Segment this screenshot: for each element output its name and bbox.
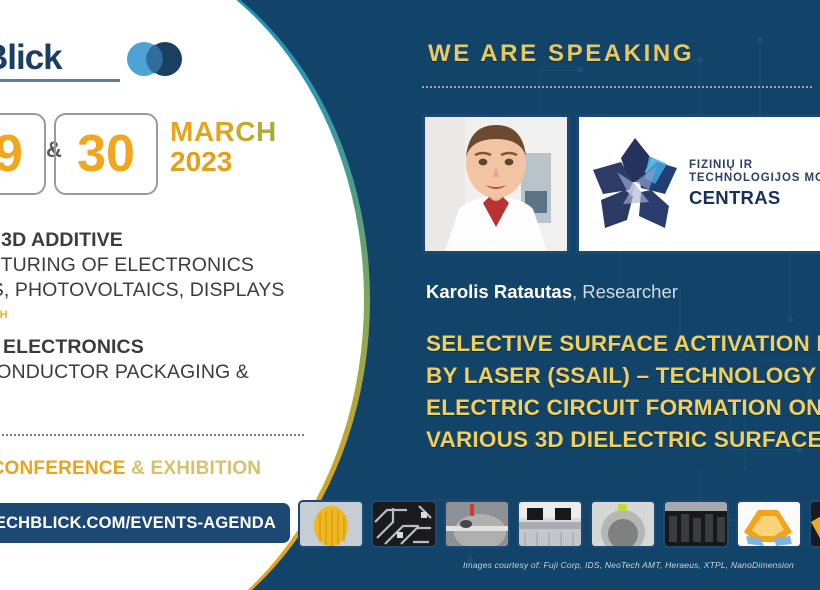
colocated-line-2: SEMICONDUCTOR PACKAGING & bbox=[0, 360, 334, 385]
thumbnail-item bbox=[371, 500, 437, 548]
speaker-announcement-banner: chBlick 29 & 30 MARCH 2023 ITAL & 3D ADD… bbox=[0, 0, 820, 590]
org-line-2: TECHNOLOGIJOS MOKS bbox=[689, 172, 820, 185]
colocated-event-name: DITIVE ELECTRONICS SEMICONDUCTOR PACKAGI… bbox=[0, 335, 334, 410]
thumbnail-item bbox=[444, 500, 510, 548]
thumbnail-item bbox=[298, 500, 364, 548]
panel-eyebrow: WE ARE SPEAKING bbox=[428, 40, 694, 68]
day-two-value: 30 bbox=[77, 128, 135, 180]
headline-line-2: NUFACTURING OF ELECTRONICS bbox=[0, 253, 324, 278]
format-primary: TUAL CONFERENCE bbox=[0, 458, 126, 479]
colocated-line-3: S bbox=[0, 385, 334, 410]
talk-title-line-2: BY LASER (SSAIL) – TECHNOLOGY OF bbox=[426, 360, 820, 392]
event-url-button[interactable]: W.TECHBLICK.COM/EVENTS-AGENDA bbox=[0, 503, 290, 543]
talk-title-line-1: SELECTIVE SURFACE ACTIVATION INDU bbox=[426, 328, 820, 360]
speaker-identity: Karolis Ratautas, Researcher bbox=[426, 281, 678, 303]
colocated-label: CATED WITH bbox=[0, 309, 8, 321]
talk-title-line-3: ELECTRIC CIRCUIT FORMATION ON bbox=[426, 392, 820, 424]
event-info-panel: chBlick 29 & 30 MARCH 2023 ITAL & 3D ADD… bbox=[0, 0, 320, 590]
event-format: TUAL CONFERENCE & EXHIBITION bbox=[0, 458, 261, 480]
portrait-illustration bbox=[425, 117, 567, 251]
logo-circles-icon bbox=[124, 41, 184, 77]
org-line-3: CENTRAS bbox=[689, 188, 820, 209]
headline-line-1: ITAL & 3D ADDITIVE bbox=[0, 228, 324, 253]
image-credit: Images courtesy of: Fuji Corp, IDS, NeoT… bbox=[463, 560, 794, 570]
thumbnail-item bbox=[517, 500, 583, 548]
speaker-name: Karolis Ratautas bbox=[426, 281, 572, 302]
headline-line-3: NSORS, PHOTOVOLTAICS, DISPLAYS bbox=[0, 278, 324, 303]
logo-word-bold: Blick bbox=[0, 38, 62, 77]
techblick-logo[interactable]: chBlick bbox=[0, 38, 178, 84]
thumbnail-item bbox=[809, 500, 820, 548]
event-year: 2023 bbox=[170, 147, 277, 177]
event-url-text: W.TECHBLICK.COM/EVENTS-AGENDA bbox=[0, 514, 276, 533]
thumbnail-item bbox=[663, 500, 729, 548]
event-dates: 29 & 30 MARCH 2023 bbox=[0, 113, 302, 191]
thumbnail-strip bbox=[298, 500, 820, 548]
talk-title-line-4: VARIOUS 3D DIELECTRIC SURFACES bbox=[426, 424, 820, 456]
ftmc-star-icon bbox=[587, 132, 683, 236]
logo-underline bbox=[0, 79, 120, 82]
eyebrow-dotted-divider bbox=[422, 86, 814, 88]
date-box-day-two: 30 bbox=[54, 113, 158, 195]
organization-name: FIZINIŲ IR TECHNOLOGIJOS MOKS CENTRAS bbox=[689, 159, 820, 208]
divider-dotted bbox=[0, 434, 304, 436]
speaker-portrait bbox=[422, 114, 570, 254]
thumbnail-item bbox=[736, 500, 802, 548]
event-month: MARCH bbox=[170, 117, 277, 147]
techblick-wordmark: chBlick bbox=[0, 38, 62, 78]
colocated-line-1: DITIVE ELECTRONICS bbox=[0, 335, 334, 360]
format-secondary: & EXHIBITION bbox=[131, 458, 261, 479]
organization-logo-card: FIZINIŲ IR TECHNOLOGIJOS MOKS CENTRAS bbox=[576, 114, 820, 254]
thumbnail-item bbox=[590, 500, 656, 548]
talk-title: SELECTIVE SURFACE ACTIVATION INDU BY LAS… bbox=[426, 328, 820, 456]
org-line-1: FIZINIŲ IR bbox=[689, 159, 820, 172]
day-one-value: 29 bbox=[0, 128, 23, 180]
event-month-year: MARCH 2023 bbox=[170, 117, 277, 177]
date-box-day-one: 29 bbox=[0, 113, 46, 195]
event-headline: ITAL & 3D ADDITIVE NUFACTURING OF ELECTR… bbox=[0, 228, 324, 303]
speaker-role: , Researcher bbox=[572, 281, 678, 302]
